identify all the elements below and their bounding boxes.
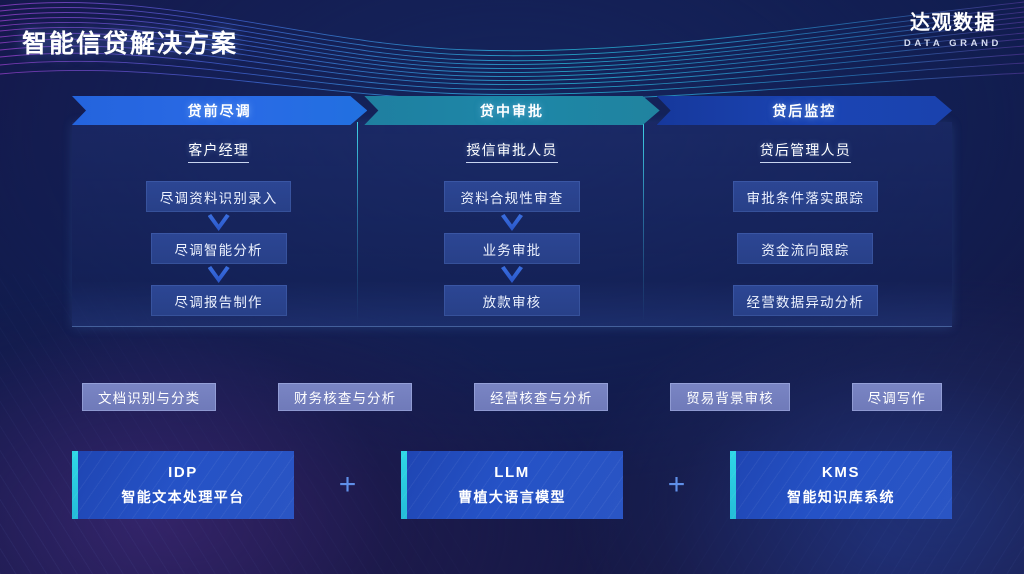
product-subtitle: 智能知识库系统	[787, 487, 895, 507]
capability-chip[interactable]: 文档识别与分类	[82, 383, 216, 411]
stage-column-in-loan: 授信审批人员 资料合规性审查 业务审批 放款审核	[365, 122, 658, 327]
chevron-down-icon	[208, 266, 230, 283]
capability-chip[interactable]: 财务核查与分析	[278, 383, 412, 411]
role-label-in-loan: 授信审批人员	[466, 140, 557, 163]
step-box[interactable]: 尽调资料识别录入	[146, 181, 292, 212]
product-subtitle: 智能文本处理平台	[121, 487, 244, 507]
step-box[interactable]: 放款审核	[444, 285, 580, 316]
step-box[interactable]: 尽调智能分析	[151, 233, 287, 264]
plus-separator-icon: +	[294, 470, 401, 500]
step-box[interactable]: 资料合规性审查	[444, 181, 580, 212]
page-title: 智能信贷解决方案	[22, 24, 238, 60]
step-box[interactable]: 业务审批	[444, 233, 580, 264]
brand-logo-en: DATA GRAND	[904, 38, 1002, 49]
stage-arrow-post-loan[interactable]: 贷后监控	[657, 96, 952, 125]
product-title: LLM	[494, 464, 530, 481]
brand-logo-cn: 达观数据	[904, 12, 1002, 35]
chevron-down-icon	[501, 214, 523, 231]
accent-bar	[401, 451, 407, 519]
step-list-pre-loan: 尽调资料识别录入 尽调智能分析 尽调报告制作	[146, 181, 292, 316]
plus-separator-icon: +	[623, 470, 730, 500]
brand-logo: 达观数据 DATA GRAND	[904, 12, 1002, 49]
accent-bar	[72, 451, 78, 519]
product-card-row: IDP 智能文本处理平台 + LLM 曹植大语言模型 + KMS 智能知识库系统	[72, 451, 952, 519]
capability-chip[interactable]: 经营核查与分析	[474, 383, 608, 411]
product-title: KMS	[822, 464, 860, 481]
stage-arrow-in-loan[interactable]: 贷中审批	[364, 96, 659, 125]
stage-columns: 客户经理 尽调资料识别录入 尽调智能分析 尽调报告制作 授信审批人员 资料合规性…	[72, 122, 952, 327]
role-label-post-loan: 贷后管理人员	[760, 140, 851, 163]
stage-column-post-loan: 贷后管理人员 审批条件落实跟踪 资金流向跟踪 经营数据异动分析	[659, 122, 952, 327]
capability-chip[interactable]: 贸易背景审核	[670, 383, 790, 411]
capability-row: 文档识别与分类 财务核查与分析 经营核查与分析 贸易背景审核 尽调写作	[82, 383, 942, 411]
product-card-idp[interactable]: IDP 智能文本处理平台	[72, 451, 294, 519]
step-list-in-loan: 资料合规性审查 业务审批 放款审核	[444, 181, 580, 316]
stage-arrow-pre-loan[interactable]: 贷前尽调	[72, 96, 367, 125]
step-list-post-loan: 审批条件落实跟踪 资金流向跟踪 经营数据异动分析	[733, 181, 879, 316]
stage-arrow-header-row: 贷前尽调 贷中审批 贷后监控	[72, 96, 952, 125]
step-box[interactable]: 尽调报告制作	[151, 285, 287, 316]
product-subtitle: 曹植大语言模型	[458, 487, 566, 507]
chevron-down-icon	[208, 214, 230, 231]
product-card-kms[interactable]: KMS 智能知识库系统	[730, 451, 952, 519]
step-box[interactable]: 审批条件落实跟踪	[733, 181, 879, 212]
product-title: IDP	[168, 464, 198, 481]
role-label-pre-loan: 客户经理	[188, 140, 249, 163]
accent-bar	[730, 451, 736, 519]
product-card-llm[interactable]: LLM 曹植大语言模型	[401, 451, 623, 519]
chevron-down-icon	[501, 266, 523, 283]
stage-column-pre-loan: 客户经理 尽调资料识别录入 尽调智能分析 尽调报告制作	[72, 122, 365, 327]
step-box[interactable]: 经营数据异动分析	[733, 285, 879, 316]
capability-chip[interactable]: 尽调写作	[852, 383, 942, 411]
step-box[interactable]: 资金流向跟踪	[737, 233, 873, 264]
glow-bottom-left	[0, 314, 400, 574]
